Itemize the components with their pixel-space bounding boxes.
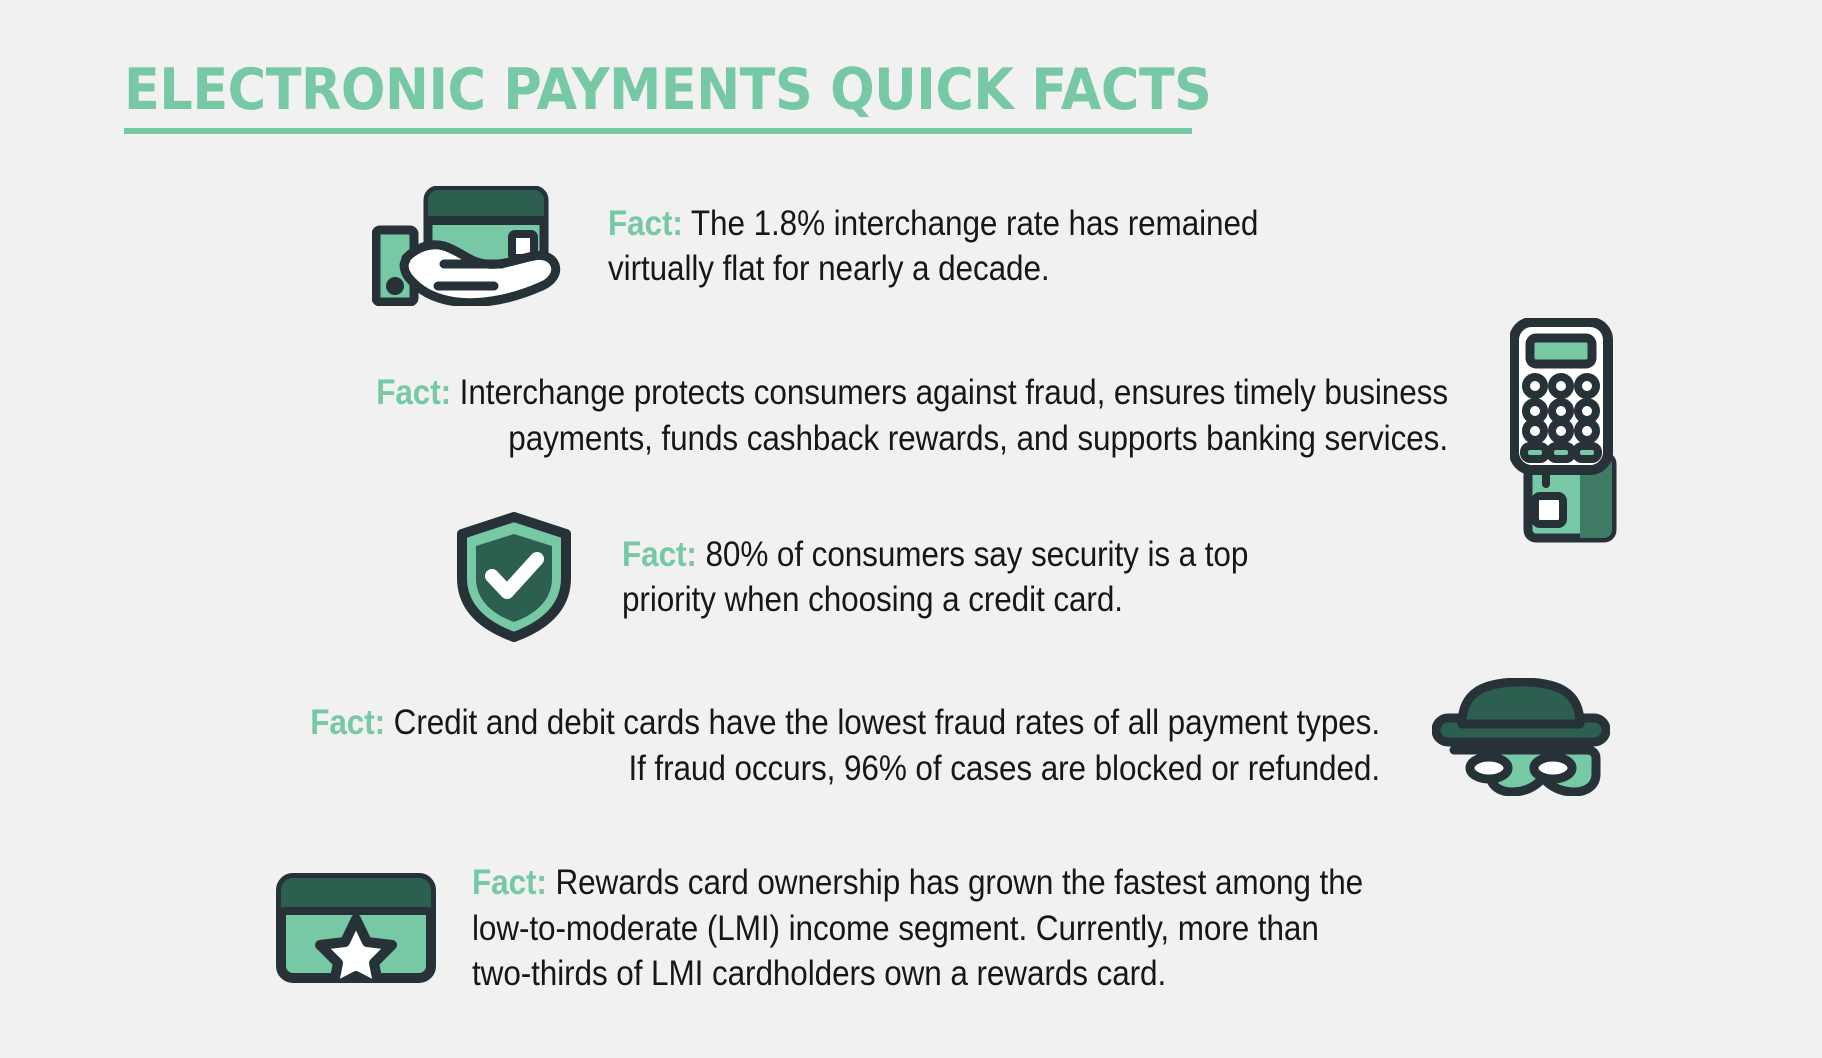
fact-label: Fact: [472, 863, 547, 902]
fact-text-rewards-lmi: Fact: Rewards card ownership has grown t… [472, 860, 1381, 997]
hand-holding-card-icon [372, 186, 562, 306]
fact-row-fraud-rates: Fact: Credit and debit cards have the lo… [190, 700, 1380, 791]
thief-mask-icon [1432, 678, 1610, 796]
fact-text-fraud-rates: Fact: Credit and debit cards have the lo… [309, 700, 1380, 791]
fact-body: Credit and debit cards have the lowest f… [385, 703, 1380, 788]
fact-body: 80% of consumers say security is a top p… [622, 535, 1248, 620]
fact-row-rewards-lmi: Fact: Rewards card ownership has grown t… [276, 860, 1482, 997]
title-underline-rule [124, 128, 1192, 134]
fact-text-interchange-rate: Fact: The 1.8% interchange rate has rema… [608, 201, 1337, 292]
fact-label: Fact: [622, 535, 697, 574]
fact-label: Fact: [376, 373, 451, 412]
fact-body: The 1.8% interchange rate has remained v… [608, 204, 1258, 289]
page-title-block: ELECTRONIC PAYMENTS QUICK FACTS [124, 62, 1306, 134]
fact-body: Rewards card ownership has grown the fas… [472, 863, 1363, 993]
rewards-star-card-icon [276, 873, 436, 983]
fact-body: Interchange protects consumers against f… [451, 373, 1448, 458]
shield-check-icon [452, 512, 576, 642]
fact-row-security-priority: Fact: 80% of consumers say security is a… [452, 512, 1382, 642]
fact-label: Fact: [310, 703, 385, 742]
fact-label: Fact: [608, 204, 683, 243]
infographic-page: ELECTRONIC PAYMENTS QUICK FACTS Fact: Th… [0, 0, 1822, 1058]
fact-row-interchange-protections: Fact: Interchange protects consumers aga… [168, 370, 1448, 461]
fact-row-interchange-rate: Fact: The 1.8% interchange rate has rema… [372, 186, 1418, 306]
page-title: ELECTRONIC PAYMENTS QUICK FACTS [124, 62, 1211, 119]
fact-text-security-priority: Fact: 80% of consumers say security is a… [622, 532, 1306, 623]
fact-text-interchange-protections: Fact: Interchange protects consumers aga… [296, 370, 1448, 461]
payment-terminal-icon [1510, 318, 1630, 548]
